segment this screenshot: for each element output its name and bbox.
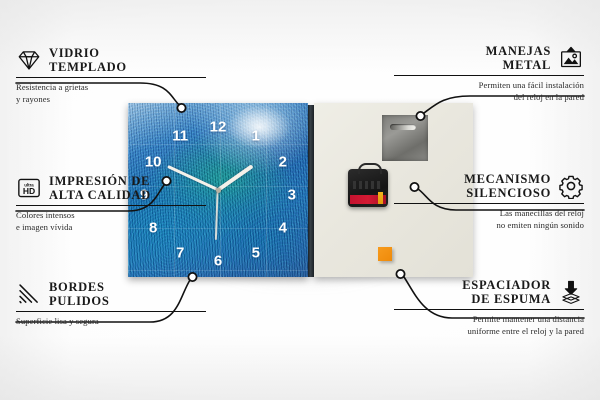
hanging-picture-frame-icon	[558, 45, 584, 71]
feature-title: MECANISMO SILENCIOSO	[464, 172, 551, 200]
svg-text:HD: HD	[23, 186, 35, 196]
clock-numeral: 12	[210, 120, 227, 135]
feature-title: IMPRESIÓN DE ALTA CALIDAD	[49, 174, 151, 202]
feature-subtitle-line1: Permiten una fácil instalación	[394, 80, 584, 92]
feature-divider	[16, 311, 206, 312]
movement-hook	[358, 163, 382, 174]
clock-numeral: 4	[279, 221, 287, 236]
metal-hanger-plate	[382, 115, 428, 161]
feature-subtitle-line2: no emiten ningún sonido	[394, 220, 584, 232]
feature-header: MANEJAS METAL	[394, 44, 584, 72]
feature-subtitle-line2: y rayones	[16, 94, 206, 106]
clock-numeral: 7	[176, 245, 184, 260]
feature-manejas-metal[interactable]: MANEJAS METAL Permiten una fácil instala…	[394, 44, 584, 104]
clock-numeral: 5	[252, 245, 260, 260]
feature-header: MECANISMO SILENCIOSO	[394, 172, 584, 200]
clock-numeral: 6	[214, 254, 222, 269]
movement-detail	[353, 181, 381, 189]
feature-subtitle-line1: Permite mantener una distancia	[394, 314, 584, 326]
feature-impresion-alta-calidad[interactable]: ultra HD IMPRESIÓN DE ALTA CALIDAD Color…	[16, 174, 206, 234]
polished-edge-icon	[16, 281, 42, 307]
feature-subtitle-line2: uniforme entre el reloj y la pared	[394, 326, 584, 338]
feature-subtitle-line1: Superficie lisa y segura	[16, 316, 206, 328]
feature-title: ESPACIADOR DE ESPUMA	[462, 278, 551, 306]
infographic-page: 12 1 2 3 4 5 6 7 8 9 10 11	[0, 0, 600, 400]
feature-header: ESPACIADOR DE ESPUMA	[394, 278, 584, 306]
feature-divider	[394, 203, 584, 204]
clock-numeral: 2	[279, 155, 287, 170]
clock-center-cap	[216, 188, 221, 193]
feature-mecanismo-silencioso[interactable]: MECANISMO SILENCIOSO Las manecillas del …	[394, 172, 584, 232]
feature-subtitle-line1: Las manecillas del reloj	[394, 208, 584, 220]
feature-title: VIDRIO TEMPLADO	[49, 46, 127, 74]
hanger-slot	[390, 124, 416, 130]
arrow-down-onto-foam-icon	[558, 279, 584, 305]
feature-title: BORDES PULIDOS	[49, 280, 109, 308]
feature-vidrio-templado[interactable]: VIDRIO TEMPLADO Resistencia a grietas y …	[16, 46, 206, 106]
feature-subtitle-line2: del reloj en la pared	[394, 92, 584, 104]
feature-divider	[394, 309, 584, 310]
gear-icon	[558, 173, 584, 199]
clock-numeral: 10	[145, 155, 162, 170]
feature-bordes-pulidos[interactable]: BORDES PULIDOS Superficie lisa y segura	[16, 280, 206, 328]
clock-numeral: 3	[288, 188, 296, 203]
feature-header: BORDES PULIDOS	[16, 280, 206, 308]
feature-subtitle-line2: e imagen vívida	[16, 222, 206, 234]
foam-spacer	[378, 247, 392, 261]
ultra-hd-badge-icon: ultra HD	[16, 175, 42, 201]
movement-label	[350, 195, 386, 204]
feature-header: ultra HD IMPRESIÓN DE ALTA CALIDAD	[16, 174, 206, 202]
feature-title: MANEJAS METAL	[486, 44, 551, 72]
feature-divider	[394, 75, 584, 76]
feature-espaciador-espuma[interactable]: ESPACIADOR DE ESPUMA Permite mantener un…	[394, 278, 584, 338]
diamond-icon	[16, 47, 42, 73]
clock-numeral: 11	[172, 129, 188, 144]
clock-numeral: 1	[252, 129, 260, 144]
quartz-movement	[348, 169, 388, 207]
feature-header: VIDRIO TEMPLADO	[16, 46, 206, 74]
feature-divider	[16, 205, 206, 206]
feature-subtitle-line1: Resistencia a grietas	[16, 82, 206, 94]
feature-subtitle-line1: Colores intensos	[16, 210, 206, 222]
feature-divider	[16, 77, 206, 78]
